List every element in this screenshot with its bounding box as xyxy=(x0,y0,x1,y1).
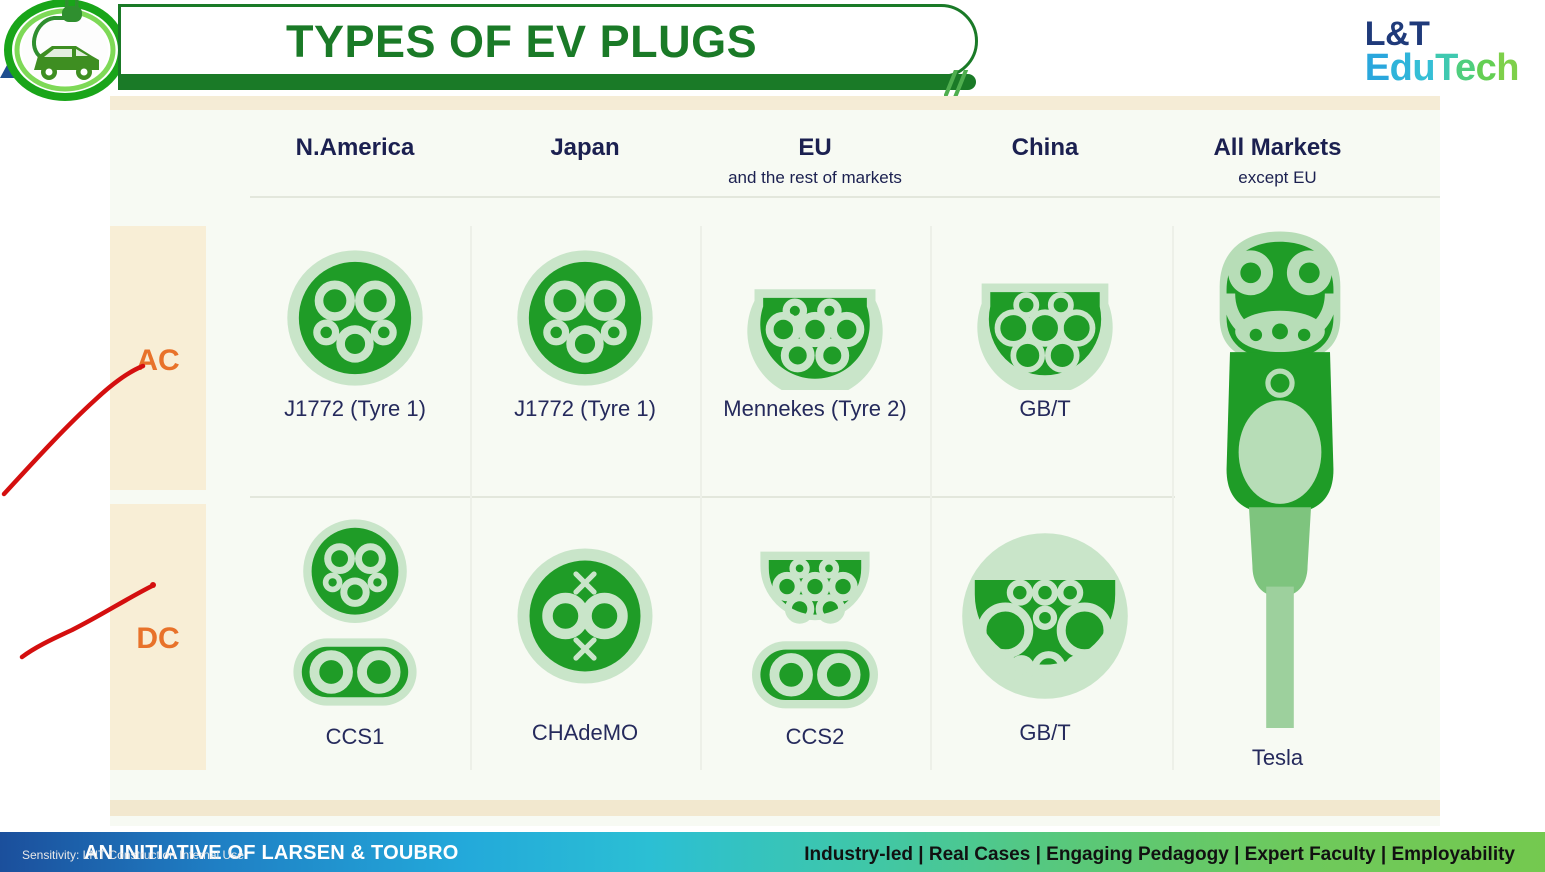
slide-root: TYPES OF EV PLUGS L&T EduTech N.America … xyxy=(0,0,1545,872)
column-header-label: N.America xyxy=(250,134,460,162)
plug-name-label: CCS1 xyxy=(250,724,460,750)
column-header-sublabel: and the rest of markets xyxy=(710,168,920,188)
header-divider-rule xyxy=(250,196,1440,198)
column-header-all-markets: All Markets except EU xyxy=(1175,134,1380,188)
mennekes-type2-plug-icon xyxy=(743,246,887,390)
plug-graphic-wrap xyxy=(710,246,920,390)
tesla-connector-icon xyxy=(1185,228,1375,728)
column-header-label: China xyxy=(940,134,1150,162)
chademo-plug-icon xyxy=(510,541,660,691)
column-separator xyxy=(930,226,932,770)
plug-cell-ac-china: GB/T xyxy=(940,246,1150,422)
column-header-n-america: N.America xyxy=(250,134,460,168)
title-underline-bar xyxy=(118,74,976,90)
column-separator xyxy=(700,226,702,770)
plug-cell-dc-japan: CHAdeMO xyxy=(480,518,690,746)
j1772-type1-plug-icon xyxy=(283,246,427,390)
column-header-label: EU xyxy=(710,134,920,162)
plug-cell-dc-eu: CCS2 xyxy=(710,518,920,750)
plug-graphic-wrap xyxy=(480,246,690,390)
row-label-ac: AC xyxy=(110,344,206,378)
column-header-label: Japan xyxy=(480,134,690,162)
column-separator xyxy=(1172,226,1174,770)
plug-name-label: CHAdeMO xyxy=(480,720,690,746)
panel-top-strip xyxy=(110,96,1440,110)
column-separator xyxy=(470,226,472,770)
plug-graphic-wrap xyxy=(940,518,1150,714)
page-title: TYPES OF EV PLUGS xyxy=(286,16,757,68)
plug-name-label: GB/T xyxy=(940,396,1150,422)
plug-graphic-wrap xyxy=(480,518,690,714)
slide-header: TYPES OF EV PLUGS L&T EduTech xyxy=(0,0,1545,100)
footer-tagline-text: Industry-led | Real Cases | Engaging Ped… xyxy=(804,844,1515,866)
column-header-eu: EU and the rest of markets xyxy=(710,134,920,188)
column-header-japan: Japan xyxy=(480,134,690,168)
plug-graphic-wrap xyxy=(250,246,460,390)
column-header-label: All Markets xyxy=(1175,134,1380,162)
plug-name-label: J1772 (Tyre 1) xyxy=(480,396,690,422)
lt-brand-text: L&T xyxy=(1365,18,1519,50)
plug-name-label: CCS2 xyxy=(710,724,920,750)
gbt-ac-plug-icon xyxy=(973,246,1117,390)
plug-graphic-wrap xyxy=(250,518,460,714)
ccs1-plug-icon xyxy=(285,518,425,714)
plug-cell-dc-n-america: CCS1 xyxy=(250,518,460,750)
row-divider-rule xyxy=(250,496,1175,498)
column-header-china: China xyxy=(940,134,1150,168)
panel-bottom-strip xyxy=(110,800,1440,816)
plug-cell-ac-n-america: J1772 (Tyre 1) xyxy=(250,246,460,422)
ccs2-plug-icon xyxy=(740,518,890,714)
plug-name-label: Mennekes (Tyre 2) xyxy=(710,396,920,422)
plug-cell-ac-eu: Mennekes (Tyre 2) xyxy=(710,246,920,422)
row-label-dc: DC xyxy=(110,622,206,656)
plug-graphic-wrap xyxy=(940,246,1150,390)
sensitivity-label: Sensitivity: LNT Construction Internal U… xyxy=(22,848,244,862)
plug-cell-dc-china: GB/T xyxy=(940,518,1150,746)
plug-name-label-tesla: Tesla xyxy=(1185,745,1370,771)
ev-car-plug-logo-icon xyxy=(2,0,128,102)
column-header-sublabel: except EU xyxy=(1175,168,1380,188)
j1772-type1-plug-icon xyxy=(513,246,657,390)
edutech-brand-text: EduTech xyxy=(1365,50,1519,86)
plug-cell-ac-japan: J1772 (Tyre 1) xyxy=(480,246,690,422)
plug-name-label: J1772 (Tyre 1) xyxy=(250,396,460,422)
gbt-dc-plug-icon xyxy=(955,526,1135,706)
plug-cell-tesla xyxy=(1185,228,1375,728)
plug-graphic-wrap xyxy=(710,518,920,714)
lt-edutech-logo: L&T EduTech xyxy=(1365,18,1519,86)
plug-name-label: GB/T xyxy=(940,720,1150,746)
